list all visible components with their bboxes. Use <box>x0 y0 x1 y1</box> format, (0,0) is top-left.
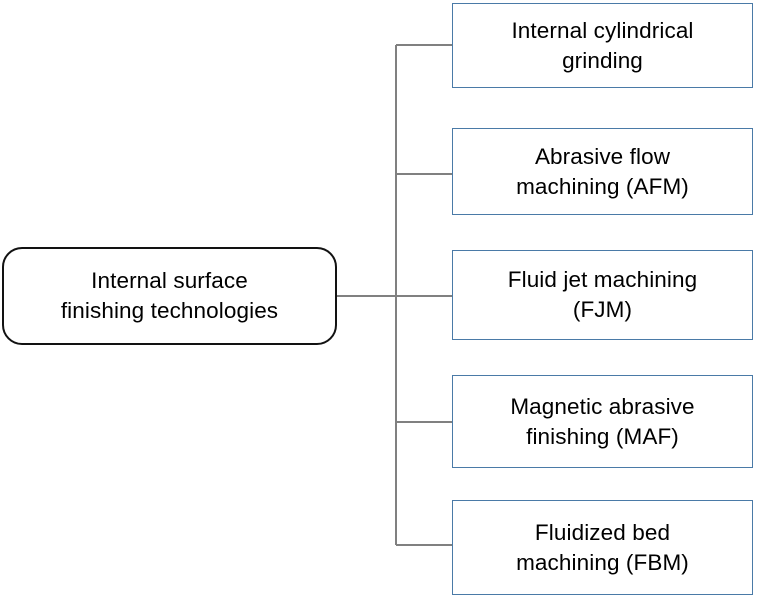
leaf-node-label: Internal cylindrical grinding <box>501 16 703 76</box>
root-node-label: Internal surface finishing technologies <box>47 266 292 326</box>
leaf-node-abrasive-flow-machining: Abrasive flow machining (AFM) <box>452 128 753 215</box>
leaf-node-label: Fluidized bed machining (FBM) <box>506 518 699 578</box>
tree-diagram: Internal surface finishing technologies … <box>0 0 761 604</box>
leaf-node-internal-cylindrical-grinding: Internal cylindrical grinding <box>452 3 753 88</box>
leaf-node-magnetic-abrasive-finishing: Magnetic abrasive finishing (MAF) <box>452 375 753 468</box>
root-node: Internal surface finishing technologies <box>2 247 337 345</box>
leaf-node-label: Fluid jet machining (FJM) <box>498 265 708 325</box>
leaf-node-label: Abrasive flow machining (AFM) <box>506 142 699 202</box>
leaf-node-fluidized-bed-machining: Fluidized bed machining (FBM) <box>452 500 753 595</box>
leaf-node-label: Magnetic abrasive finishing (MAF) <box>500 392 704 452</box>
leaf-node-fluid-jet-machining: Fluid jet machining (FJM) <box>452 250 753 340</box>
